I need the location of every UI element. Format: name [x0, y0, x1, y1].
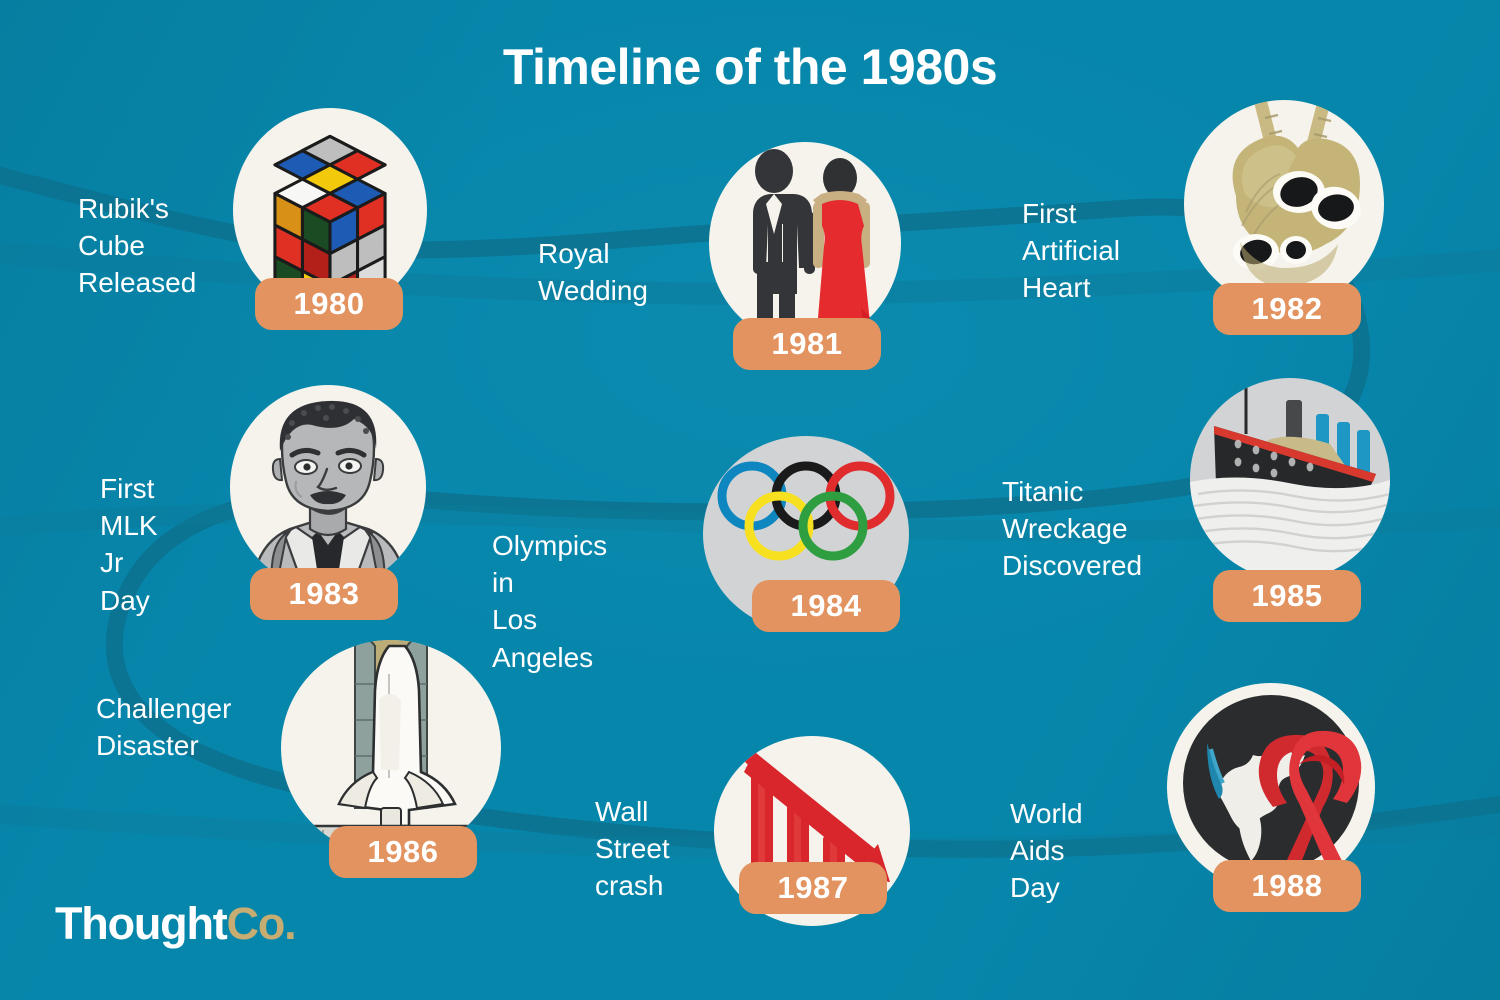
event-bubble-1985: [1190, 378, 1390, 580]
space-shuttle-icon: [281, 640, 501, 856]
event-label-1980: Rubik's Cube Released: [78, 190, 196, 302]
event-year-1982: 1982: [1213, 283, 1361, 335]
thoughtco-logo[interactable]: ThoughtCo.: [55, 898, 295, 950]
event-label-1988: World Aids Day: [1010, 795, 1083, 907]
event-bubble-1981: [709, 142, 901, 344]
event-year-1980: 1980: [255, 278, 403, 330]
event-bubble-1986: [281, 640, 501, 856]
event-label-1984: Olympics in Los Angeles: [492, 527, 607, 676]
event-bubble-1983: [230, 385, 426, 589]
event-year-1985: 1985: [1213, 570, 1361, 622]
artificial-heart-icon: [1184, 100, 1384, 308]
page-title: Timeline of the 1980s: [0, 38, 1500, 96]
event-bubble-1982: [1184, 100, 1384, 308]
event-label-1981: Royal Wedding: [538, 235, 648, 309]
event-year-1983: 1983: [250, 568, 398, 620]
event-label-1983: First MLK Jr Day: [100, 470, 158, 619]
mlk-portrait-icon: [230, 385, 426, 589]
logo-text-co: Co.: [227, 898, 296, 949]
event-year-1984: 1984: [752, 580, 900, 632]
event-year-1987: 1987: [739, 862, 887, 914]
logo-text-thought: Thought: [55, 898, 227, 949]
event-year-1988: 1988: [1213, 860, 1361, 912]
event-year-1981: 1981: [733, 318, 881, 370]
royal-couple-icon: [709, 142, 901, 344]
sinking-ship-icon: [1190, 378, 1390, 580]
infographic-canvas: Timeline of the 1980s Rubik's Cube Relea…: [0, 0, 1500, 1000]
event-label-1987: Wall Street crash: [595, 793, 670, 905]
event-label-1986: Challenger Disaster: [96, 690, 231, 764]
event-label-1985: Titanic Wreckage Discovered: [1002, 473, 1142, 585]
event-year-1986: 1986: [329, 826, 477, 878]
event-label-1982: First Artificial Heart: [1022, 195, 1120, 307]
